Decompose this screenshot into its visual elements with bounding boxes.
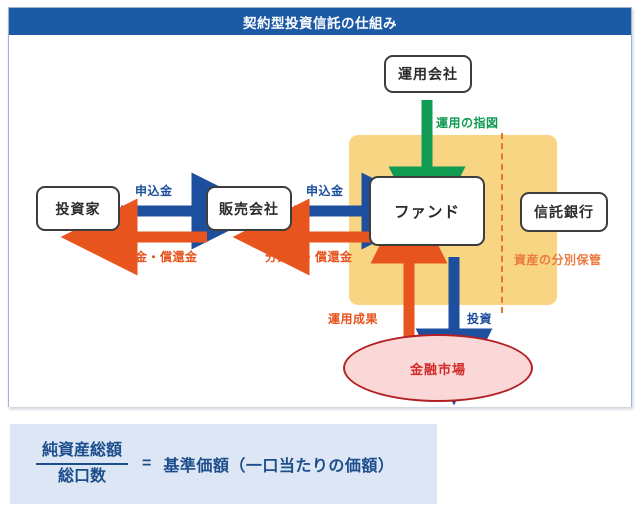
label-subscription-right: 申込金 [306, 182, 344, 199]
page-title: 契約型投資信託の仕組み [9, 8, 631, 35]
formula-denominator: 総口数 [52, 465, 112, 487]
diagram-card: 契約型投資信託の仕組み [8, 7, 632, 407]
label-management-instruction: 運用の指図 [436, 114, 499, 131]
equals-sign: = [142, 455, 151, 473]
label-distribution-right: 分配金・償還金 [265, 248, 353, 265]
screenshot-root: 契約型投資信託の仕組み [0, 0, 640, 514]
node-trust-bank[interactable]: 信託銀行 [520, 192, 608, 232]
label-investment: 投資 [467, 310, 492, 327]
node-management-company[interactable]: 運用会社 [384, 55, 472, 93]
formula-numerator: 純資産総額 [36, 441, 128, 463]
label-subscription-left: 申込金 [135, 182, 173, 199]
node-financial-market[interactable]: 金融市場 [343, 334, 533, 402]
diagram-canvas: 投資家 販売会社 ファンド 運用会社 信託銀行 金融市場 申込金 申込金 分配金… [9, 35, 631, 407]
label-distribution-left: 分配金・償還金 [110, 248, 198, 265]
label-segregated-custody: 資産の分別保管 [514, 251, 602, 268]
node-distributor[interactable]: 販売会社 [206, 186, 292, 231]
node-fund[interactable]: ファンド [369, 176, 485, 246]
nav-formula-box: 純資産総額 総口数 = 基準価額（一口当たりの価額） [10, 424, 437, 504]
nav-fraction: 純資産総額 総口数 [36, 441, 128, 488]
node-investor[interactable]: 投資家 [36, 186, 120, 231]
formula-result: 基準価額（一口当たりの価額） [163, 452, 394, 476]
label-performance: 運用成果 [328, 310, 378, 327]
